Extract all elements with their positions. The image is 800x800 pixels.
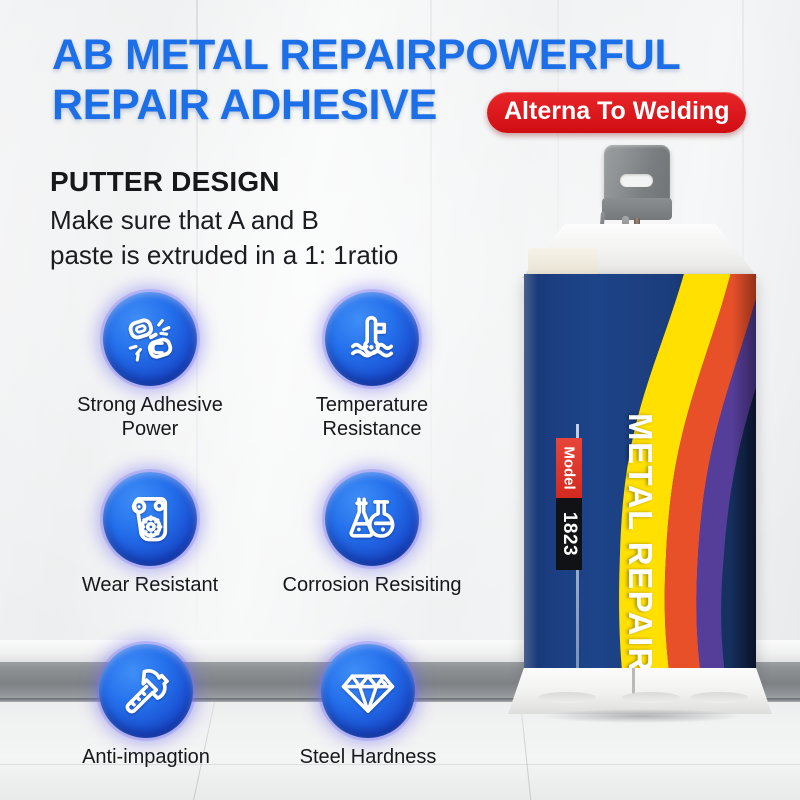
feature-item-anti-impagtion: Anti-impagtion	[48, 644, 244, 769]
thermometer-water-icon	[344, 311, 400, 367]
model-number-box: 1823	[556, 498, 582, 570]
flange-notch	[690, 692, 748, 703]
feature-bubble	[103, 472, 197, 566]
headline-line-1: AB METAL REPAIRPOWERFUL	[52, 31, 681, 79]
product-ground-shadow	[504, 706, 780, 726]
feature-item-wear-resistant: Wear Resistant	[52, 472, 248, 597]
cap-slot	[620, 174, 653, 187]
hammer-icon	[118, 663, 174, 719]
intro-line-1: Make sure that A and B	[50, 203, 470, 238]
belt-pulley-gear-icon	[122, 491, 178, 547]
feature-bubble	[103, 292, 197, 386]
feature-bubble	[325, 292, 419, 386]
feature-item-strong-adhesive-power: Strong Adhesive Power	[52, 292, 248, 441]
feature-label: Temperature Resistance	[274, 393, 470, 441]
lab-flasks-icon	[344, 491, 400, 547]
feature-item-temperature-resistance: Temperature Resistance	[274, 292, 470, 441]
product-banner: AB METAL REPAIRPOWERFUL REPAIR ADHESIVE …	[0, 0, 800, 800]
feature-label: Wear Resistant	[52, 573, 248, 597]
chain-link-icon	[122, 311, 178, 367]
alterna-to-welding-badge: Alterna To Welding	[487, 92, 746, 133]
feature-item-corrosion-resisiting: Corrosion Resisiting	[274, 472, 470, 597]
feature-bubble	[325, 472, 419, 566]
model-label-box: Model	[556, 438, 582, 498]
section-title: PUTTER DESIGN	[50, 166, 280, 198]
body-highlight	[524, 274, 538, 676]
feature-label: Corrosion Resisiting	[274, 573, 470, 597]
model-badge: Model 1823	[556, 438, 582, 570]
feature-label: Steel Hardness	[270, 745, 466, 769]
cap-skirt	[602, 198, 672, 220]
intro-copy: Make sure that A and B paste is extruded…	[50, 203, 470, 273]
product-brand-text: METAL REPAIR GLUE	[621, 413, 659, 676]
body-shadow	[732, 274, 756, 676]
feature-bubble	[99, 644, 193, 738]
flange-notch	[538, 692, 596, 703]
feature-item-steel-hardness: Steel Hardness	[270, 644, 466, 769]
feature-label: Anti-impagtion	[48, 745, 244, 769]
diamond-icon	[340, 663, 396, 719]
intro-line-2: paste is extruded in a 1: 1ratio	[50, 238, 470, 273]
product-cartridge: Model 1823 METAL REPAIR GLUE	[500, 140, 790, 760]
cartridge-body: Model 1823 METAL REPAIR GLUE	[524, 274, 756, 676]
feature-bubble	[321, 644, 415, 738]
flange-notch	[622, 692, 680, 703]
feature-label: Strong Adhesive Power	[52, 393, 248, 441]
